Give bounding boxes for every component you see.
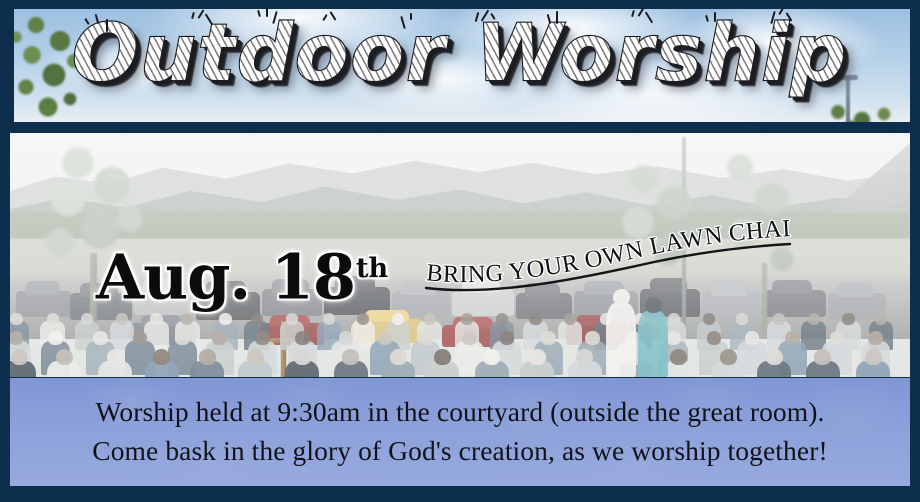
- crowd-person-head: [585, 331, 600, 345]
- crowd-person-head: [868, 331, 883, 345]
- details-line-2: Come bask in the glory of God's creation…: [10, 431, 910, 470]
- crowd-person-head: [133, 331, 148, 345]
- standing-person-body: [638, 311, 668, 377]
- crowd-person-head: [830, 331, 845, 345]
- crowd-person-head: [212, 331, 227, 345]
- crowd-person-head: [766, 349, 783, 365]
- crowd-person-head: [56, 349, 73, 365]
- crowd-person-head: [529, 349, 546, 365]
- crowd-person-head: [153, 349, 170, 365]
- crowd-person-head: [357, 313, 369, 325]
- crowd-person-head: [81, 313, 93, 325]
- crowd-person-head: [10, 313, 22, 325]
- event-date: Aug. 18th: [96, 238, 388, 309]
- crowd-person-head: [808, 313, 820, 325]
- crowd-person-head: [541, 331, 556, 345]
- crowd-person-head: [670, 349, 687, 365]
- crowd-person-head: [251, 313, 263, 325]
- crowd-person-head: [418, 331, 433, 345]
- sky-background: [14, 9, 910, 122]
- crowd-person-head: [875, 313, 887, 325]
- crowd-person-head: [150, 313, 162, 325]
- event-date-suffix: th: [356, 253, 388, 284]
- crowd-person-head: [47, 313, 59, 325]
- crowd-person-head: [219, 313, 231, 325]
- header-banner-photo: [14, 9, 910, 122]
- crowd-person-head: [342, 349, 359, 365]
- crowd-person-head: [339, 331, 354, 345]
- crowd-person-head: [461, 313, 473, 325]
- crowd-person-head: [666, 331, 681, 345]
- crowd-person-head: [496, 313, 508, 325]
- crowd-person-head: [576, 349, 593, 365]
- crowd-person-head: [11, 349, 28, 365]
- crowd-person-head: [564, 313, 576, 325]
- lamp-head-icon: [836, 75, 858, 80]
- crowd-person-head: [785, 331, 800, 345]
- crowd-person-head: [48, 331, 63, 345]
- event-date-main: Aug. 18: [96, 241, 355, 314]
- crowd-person-head: [483, 349, 500, 365]
- banner-left-tree: [14, 9, 104, 122]
- crowd-person-head: [181, 313, 193, 325]
- crowd-person-head: [199, 349, 216, 365]
- lawn-chair-note: BRING YOUR OWN LAWN CHAIR.: [424, 228, 792, 300]
- crowd-person-head: [434, 349, 451, 365]
- crowd-person-head: [814, 349, 831, 365]
- crowd-person-head: [390, 349, 407, 365]
- crowd-person-head: [392, 313, 404, 325]
- lamp-post-icon: [846, 76, 850, 122]
- crowd-person-head: [842, 313, 854, 325]
- crowd-person-head: [500, 331, 515, 345]
- crowd-person-head: [295, 331, 310, 345]
- flyer-canvas: Outdoor Worship Outdoor Worship: [0, 0, 920, 502]
- crowd-person-head: [255, 331, 270, 345]
- crowd-person-head: [773, 313, 785, 325]
- details-band: Worship held at 9:30am in the courtyard …: [10, 378, 910, 486]
- crowd-person-head: [116, 313, 128, 325]
- crowd-person-head: [720, 349, 737, 365]
- crowd-person-head: [745, 331, 760, 345]
- standing-person-body: [606, 303, 636, 377]
- crowd-person-head: [107, 349, 124, 365]
- crowd-person-head: [378, 331, 393, 345]
- crowd-person-head: [707, 331, 722, 345]
- crowd-person-head: [424, 313, 436, 325]
- crowd-person-head: [865, 349, 882, 365]
- crowd-person-head: [668, 313, 680, 325]
- crowd-person-head: [93, 331, 108, 345]
- banner-right-tree: [820, 68, 906, 122]
- crowd-person-head: [703, 313, 715, 325]
- crowd-person-head: [247, 349, 264, 365]
- crowd-person-head: [736, 313, 748, 325]
- crowd-person-head: [323, 313, 335, 325]
- crowd-person-head: [462, 331, 477, 345]
- crowd-person-head: [286, 313, 298, 325]
- crowd-person-head: [529, 313, 541, 325]
- details-text: Worship held at 9:30am in the courtyard …: [10, 392, 910, 470]
- crowd-person-head: [294, 349, 311, 365]
- details-line-1: Worship held at 9:30am in the courtyard …: [10, 392, 910, 431]
- crowd-person-head: [10, 331, 23, 345]
- crowd-person-head: [175, 331, 190, 345]
